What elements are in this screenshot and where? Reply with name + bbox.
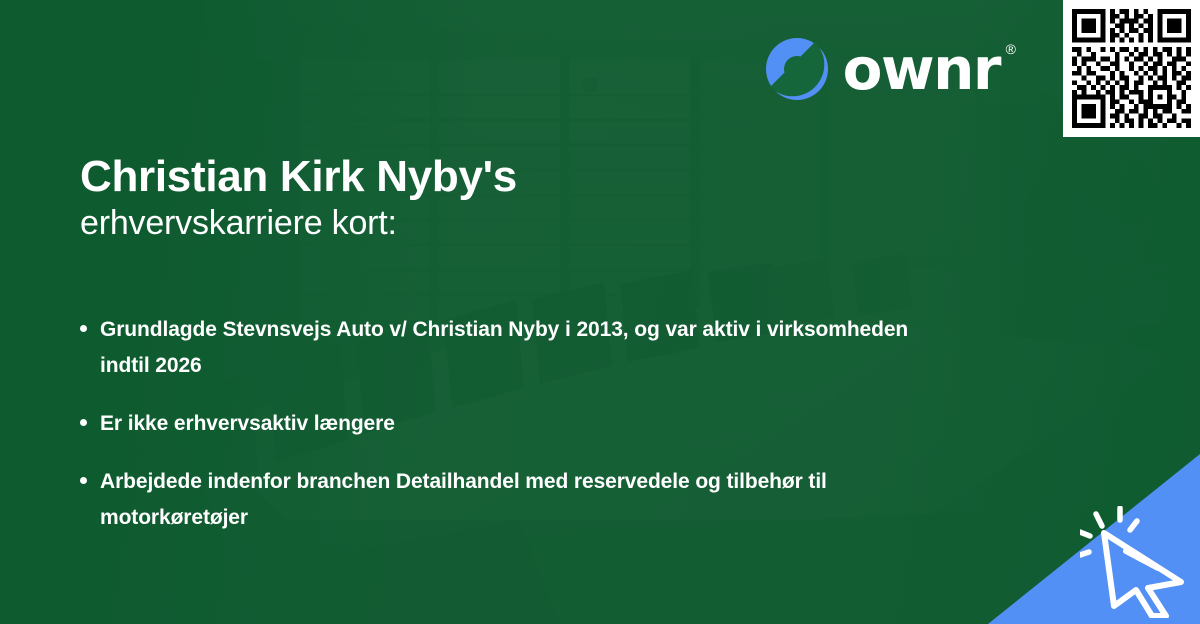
list-item-text: Grundlagde Stevnsvejs Auto v/ Christian … xyxy=(100,312,910,384)
career-facts-list: Grundlagde Stevnsvejs Auto v/ Christian … xyxy=(80,312,910,537)
ownr-wordmark: ownr® xyxy=(843,40,1000,98)
ownr-logo: ownr® xyxy=(766,38,1000,100)
list-item: Er ikke erhvervsaktiv længere xyxy=(80,406,910,442)
registered-trademark-icon: ® xyxy=(1006,42,1016,56)
qr-code[interactable] xyxy=(1063,0,1200,137)
bullet-icon xyxy=(80,325,87,332)
list-item: Grundlagde Stevnsvejs Auto v/ Christian … xyxy=(80,312,910,384)
mouse-click-cursor-icon xyxy=(1080,506,1192,618)
page-title-name: Christian Kirk Nyby's xyxy=(80,152,517,201)
ownr-wordmark-text: ownr xyxy=(843,35,1000,103)
bullet-icon xyxy=(80,419,87,426)
list-item-text: Er ikke erhvervsaktiv længere xyxy=(100,406,395,442)
list-item: Arbejdede indenfor branchen Detailhandel… xyxy=(80,464,910,536)
page-title-subtitle: erhvervskarriere kort: xyxy=(80,201,517,245)
bullet-icon xyxy=(80,477,87,484)
list-item-text: Arbejdede indenfor branchen Detailhandel… xyxy=(100,464,910,536)
page-title: Christian Kirk Nyby's erhvervskarriere k… xyxy=(80,152,517,245)
ownr-circular-swoosh-icon xyxy=(766,38,828,100)
business-career-card: ownr® xyxy=(0,0,1200,624)
